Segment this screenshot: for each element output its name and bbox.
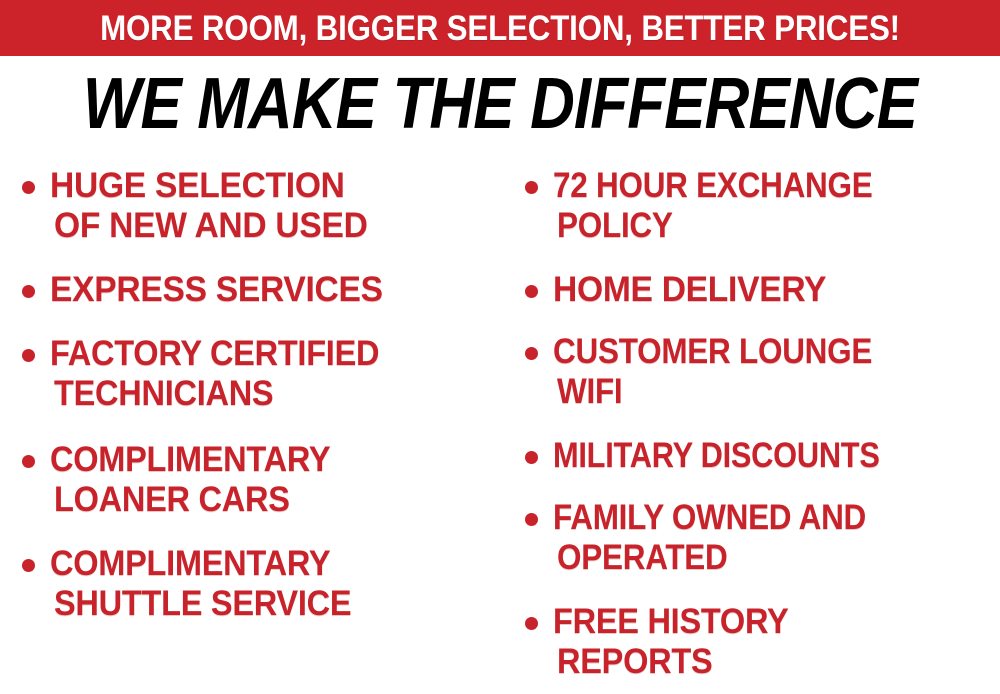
list-item-line: LOANER CARS: [54, 480, 474, 520]
header-tagline: MORE ROOM, BIGGER SELECTION, BETTER PRIC…: [53, 0, 948, 56]
list-item-line: MILITARY DISCOUNTS: [553, 436, 946, 476]
bullet-dot-icon: [525, 285, 538, 298]
list-item-line: 72 HOUR EXCHANGE: [553, 166, 955, 206]
list-item-line: POLICY: [557, 206, 956, 246]
bullet-dot-icon: [22, 455, 35, 468]
list-item-line: COMPLIMENTARY: [50, 440, 474, 480]
list-item-line: COMPLIMENTARY: [50, 544, 474, 584]
list-item-line: FREE HISTORY: [553, 602, 969, 642]
benefits-column-left: HUGE SELECTION OF NEW AND USED EXPRESS S…: [14, 166, 506, 624]
list-item-line: FAMILY OWNED AND: [553, 498, 955, 538]
list-item: HOME DELIVERY: [517, 270, 1000, 310]
list-item: CUSTOMER LOUNGE WIFI: [517, 332, 1000, 412]
benefits-column-right: 72 HOUR EXCHANGE POLICY HOME DELIVERY CU…: [517, 166, 1000, 682]
page-title: WE MAKE THE DIFFERENCE: [70, 68, 930, 140]
list-item-line: WIFI: [557, 372, 956, 412]
bullet-dot-icon: [525, 617, 538, 630]
list-item-line: OF NEW AND USED: [54, 206, 488, 246]
bullet-dot-icon: [525, 513, 538, 526]
spacer: [14, 414, 506, 440]
list-item: HUGE SELECTION OF NEW AND USED: [14, 166, 506, 246]
bullet-dot-icon: [22, 559, 35, 572]
list-item: FACTORY CERTIFIED TECHNICIANS: [14, 334, 506, 414]
spacer: [517, 310, 1000, 332]
bullet-dot-icon: [525, 181, 538, 194]
bullet-dot-icon: [22, 181, 35, 194]
promo-banner: MORE ROOM, BIGGER SELECTION, BETTER PRIC…: [0, 0, 1000, 694]
bullet-dot-icon: [525, 347, 538, 360]
spacer: [517, 246, 1000, 270]
spacer: [14, 310, 506, 334]
list-item: FAMILY OWNED AND OPERATED: [517, 498, 1000, 578]
list-item-line: TECHNICIANS: [54, 374, 474, 414]
list-item-line: REPORTS: [557, 642, 969, 682]
bullet-dot-icon: [22, 349, 35, 362]
spacer: [517, 412, 1000, 436]
spacer: [517, 476, 1000, 498]
list-item-line: HUGE SELECTION: [50, 166, 488, 206]
list-item: FREE HISTORY REPORTS: [517, 602, 1000, 682]
list-item-line: CUSTOMER LOUNGE: [553, 332, 955, 372]
list-item: EXPRESS SERVICES: [14, 270, 506, 310]
list-item: MILITARY DISCOUNTS: [517, 436, 1000, 476]
list-item: COMPLIMENTARY SHUTTLE SERVICE: [14, 544, 506, 624]
spacer: [14, 520, 506, 544]
list-item-line: HOME DELIVERY: [553, 270, 982, 310]
spacer: [517, 578, 1000, 602]
spacer: [14, 246, 506, 270]
list-item-line: EXPRESS SERVICES: [50, 270, 488, 310]
list-item-line: OPERATED: [557, 538, 956, 578]
list-item: 72 HOUR EXCHANGE POLICY: [517, 166, 1000, 246]
list-item-line: SHUTTLE SERVICE: [54, 584, 474, 624]
bullet-dot-icon: [22, 285, 35, 298]
list-item-line: FACTORY CERTIFIED: [50, 334, 474, 374]
list-item: COMPLIMENTARY LOANER CARS: [14, 440, 506, 520]
bullet-dot-icon: [525, 451, 538, 464]
